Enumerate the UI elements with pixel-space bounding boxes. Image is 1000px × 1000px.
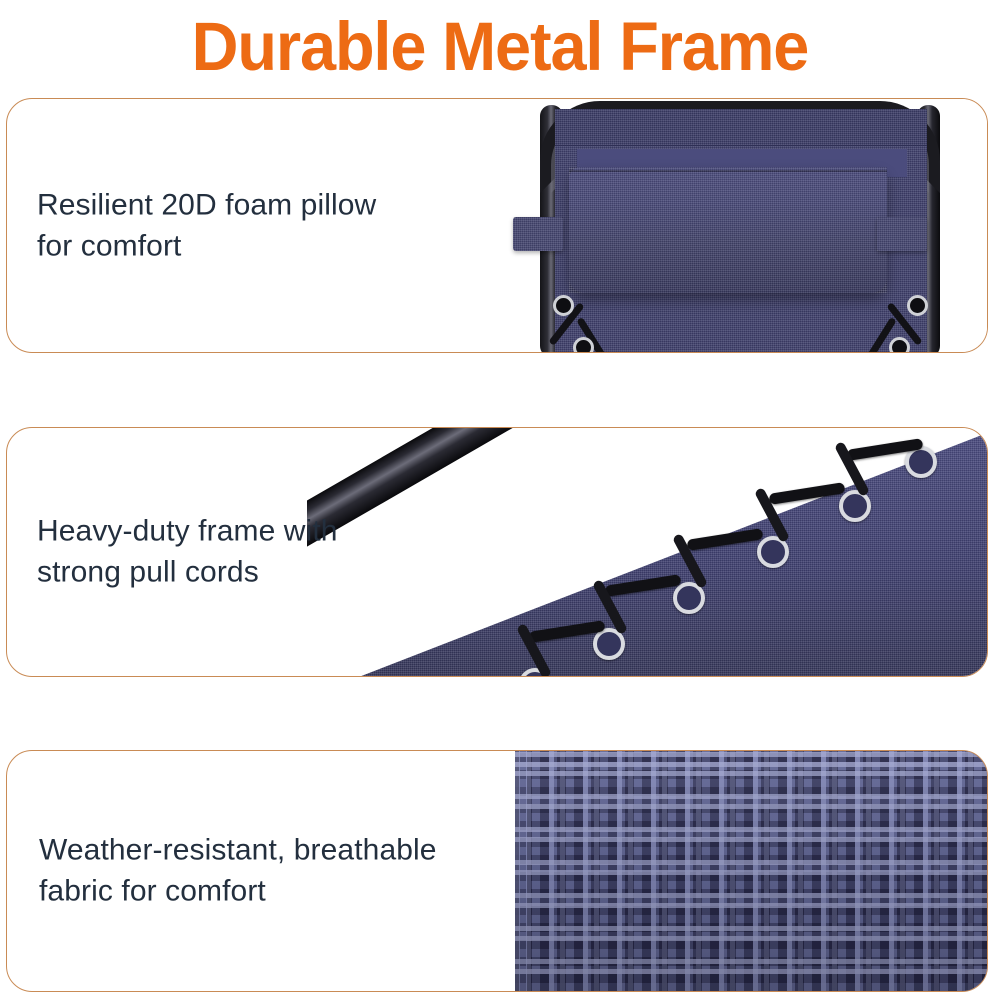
grommet-icon bbox=[839, 490, 871, 522]
pillow-strap-left bbox=[513, 217, 563, 251]
backrest-fabric-hem bbox=[555, 109, 927, 146]
pull-cord-lacing-group bbox=[307, 428, 987, 676]
feature-panel-pillow: Resilient 20D foam pillow for comfort bbox=[6, 98, 988, 353]
headrest-pillow-photo bbox=[477, 99, 987, 352]
pull-cord-icon bbox=[769, 482, 846, 505]
grommet-left-icon bbox=[553, 295, 574, 316]
grommet-right-2-icon bbox=[889, 337, 910, 352]
foam-pillow bbox=[569, 167, 887, 293]
page-title: Durable Metal Frame bbox=[192, 12, 809, 81]
frame-pull-cords-photo bbox=[307, 428, 987, 676]
feature-text-fabric: Weather-resistant, breathable fabric for… bbox=[39, 830, 437, 913]
breathable-fabric-photo bbox=[515, 751, 987, 991]
grommet-left-2-icon bbox=[573, 337, 594, 352]
pull-cord-icon bbox=[605, 574, 682, 597]
page-header: Durable Metal Frame bbox=[0, 0, 1000, 92]
feature-panel-frame: Heavy-duty frame with strong pull cords bbox=[6, 427, 988, 677]
feature-text-frame: Heavy-duty frame with strong pull cords bbox=[37, 511, 338, 594]
pillow-strap-right bbox=[877, 217, 927, 251]
feature-panel-fabric: Weather-resistant, breathable fabric for… bbox=[6, 750, 988, 992]
fabric-shading-overlay bbox=[515, 751, 987, 991]
pull-cord-icon bbox=[687, 528, 764, 551]
feature-text-pillow: Resilient 20D foam pillow for comfort bbox=[37, 184, 376, 267]
grommet-right-icon bbox=[907, 295, 928, 316]
